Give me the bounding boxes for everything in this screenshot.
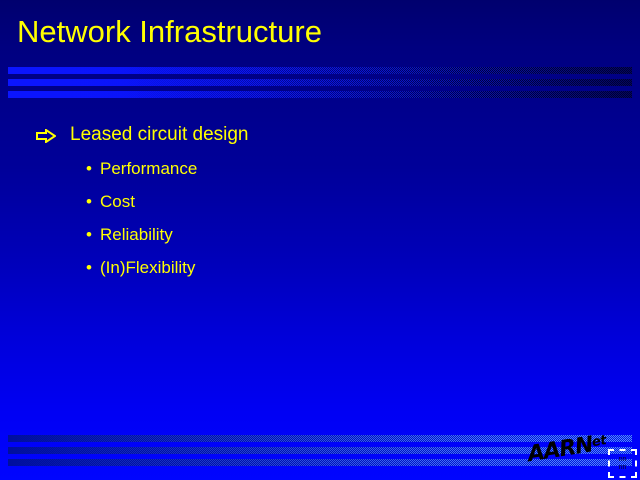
slide-body: Leased circuit design • Performance • Co… bbox=[0, 118, 640, 284]
list-item-label: Leased circuit design bbox=[70, 118, 249, 152]
page-title: Network Infrastructure bbox=[17, 15, 322, 49]
list-item: • Cost bbox=[0, 185, 640, 218]
bullet-dot-icon: • bbox=[86, 251, 92, 284]
decorative-bar bbox=[8, 67, 632, 74]
bullet-dot-icon: • bbox=[86, 152, 92, 185]
decorative-bar bbox=[8, 91, 632, 98]
list-item-label: Reliability bbox=[100, 218, 173, 251]
top-decorative-bars bbox=[8, 67, 632, 103]
list-item: • (In)Flexibility bbox=[0, 251, 640, 284]
bullet-dot-icon: • bbox=[86, 218, 92, 251]
decorative-bar bbox=[8, 79, 632, 86]
presentation-slide: Network Infrastructure Leased circuit de… bbox=[0, 0, 640, 480]
list-item: Leased circuit design bbox=[0, 118, 640, 152]
list-item-label: (In)Flexibility bbox=[100, 251, 195, 284]
list-item-label: Performance bbox=[100, 152, 197, 185]
slide-number-placeholder[interactable]: nn nn bbox=[608, 449, 637, 478]
slide-number-line-2: nn bbox=[610, 464, 635, 472]
bullet-dot-icon: • bbox=[86, 185, 92, 218]
hollow-right-arrow-icon bbox=[36, 118, 58, 152]
aarnet-logo-suffix: et bbox=[591, 433, 607, 450]
slide-number-line-1: nn bbox=[610, 456, 635, 464]
list-item-label: Cost bbox=[100, 185, 135, 218]
list-item: • Reliability bbox=[0, 218, 640, 251]
list-item: • Performance bbox=[0, 152, 640, 185]
